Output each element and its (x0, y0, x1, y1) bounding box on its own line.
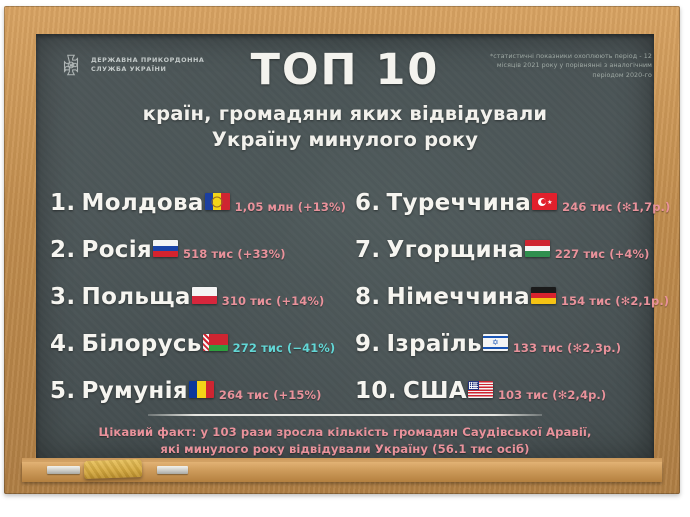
list-item-country: Ізраїль (387, 333, 482, 356)
list-item: 4.Білорусь272 тис (−41%) (50, 309, 345, 356)
list-item-country: Туреччина (387, 192, 532, 215)
israel-flag-icon: ✡ (483, 334, 508, 351)
belarus-flag-icon (203, 334, 228, 351)
list-column-right: 6.Туреччина ★246 тис (✻1,7р.)7.Угорщина2… (355, 168, 650, 403)
list-item-country: Німеччина (387, 286, 530, 309)
list-item-country: Молдова (82, 192, 204, 215)
list-item-rank: 4. (50, 333, 76, 356)
list-item-value: 264 тис (+15%) (219, 389, 322, 401)
chalk-stick-icon (157, 466, 188, 474)
list-item-country: Польща (82, 286, 191, 309)
list-item: 2.Росія518 тис (+33%) (50, 215, 345, 262)
list-item-value: 310 тис (+14%) (222, 295, 325, 307)
poland-flag-icon (192, 287, 217, 304)
list-item-rank: 9. (355, 333, 381, 356)
list-item-value: 133 тис (✻2,3р.) (513, 342, 621, 354)
list-item-value: 518 тис (+33%) (183, 248, 286, 260)
sponge-eraser-icon (84, 459, 143, 479)
list-item-country: Угорщина (387, 239, 524, 262)
list-item-country: Румунія (82, 380, 188, 403)
list-item: 10.США 103 тис (✻2,4р.) (355, 356, 650, 403)
hungary-flag-icon (525, 240, 550, 257)
chalk-stick-icon (47, 466, 80, 474)
list-item: 1.Молдова1,05 млн (+13%) (50, 168, 345, 215)
page-subtitle: країн, громадяни яких відвідували Україн… (120, 101, 570, 153)
list-item-country: Білорусь (82, 333, 202, 356)
top10-list: 1.Молдова1,05 млн (+13%)2.Росія518 тис (… (50, 168, 650, 400)
list-item: 8.Німеччина154 тис (✻2,1р.) (355, 262, 650, 309)
list-column-left: 1.Молдова1,05 млн (+13%)2.Росія518 тис (… (50, 168, 345, 403)
list-item-country: Росія (82, 239, 152, 262)
usa-flag-icon (468, 381, 493, 398)
list-item-rank: 3. (50, 286, 76, 309)
list-item-rank: 6. (355, 192, 381, 215)
infographic-root: ДЕРЖАВНА ПРИКОРДОННА СЛУЖБА УКРАЇНИ *ста… (0, 0, 690, 517)
list-item: 9.Ізраїль ✡133 тис (✻2,3р.) (355, 309, 650, 356)
germany-flag-icon (531, 287, 556, 304)
list-item-value: 227 тис (+4%) (555, 248, 650, 260)
list-item-rank: 5. (50, 380, 76, 403)
list-item-rank: 8. (355, 286, 381, 309)
page-title: ТОП 10 (0, 48, 690, 93)
interesting-fact-text: Цікавий факт: у 103 рази зросла кількіст… (72, 424, 618, 458)
list-item-rank: 2. (50, 239, 76, 262)
list-item: 7.Угорщина227 тис (+4%) (355, 215, 650, 262)
list-item-rank: 1. (50, 192, 76, 215)
list-item-rank: 7. (355, 239, 381, 262)
list-item-rank: 10. (355, 380, 397, 403)
turkey-flag-icon: ★ (532, 193, 557, 210)
list-item: 5.Румунія264 тис (+15%) (50, 356, 345, 403)
russia-flag-icon (153, 240, 178, 257)
list-item: 3.Польща310 тис (+14%) (50, 262, 345, 309)
list-item-value: 246 тис (✻1,7р.) (562, 201, 670, 213)
footer-divider (148, 414, 542, 416)
list-item-value: 154 тис (✻2,1р.) (561, 295, 669, 307)
list-item-country: США (403, 380, 467, 403)
list-item-value: 272 тис (−41%) (233, 342, 336, 354)
moldova-flag-icon (205, 193, 230, 210)
list-item: 6.Туреччина ★246 тис (✻1,7р.) (355, 168, 650, 215)
list-item-value: 103 тис (✻2,4р.) (498, 389, 606, 401)
list-item-value: 1,05 млн (+13%) (235, 201, 346, 213)
romania-flag-icon (189, 381, 214, 398)
